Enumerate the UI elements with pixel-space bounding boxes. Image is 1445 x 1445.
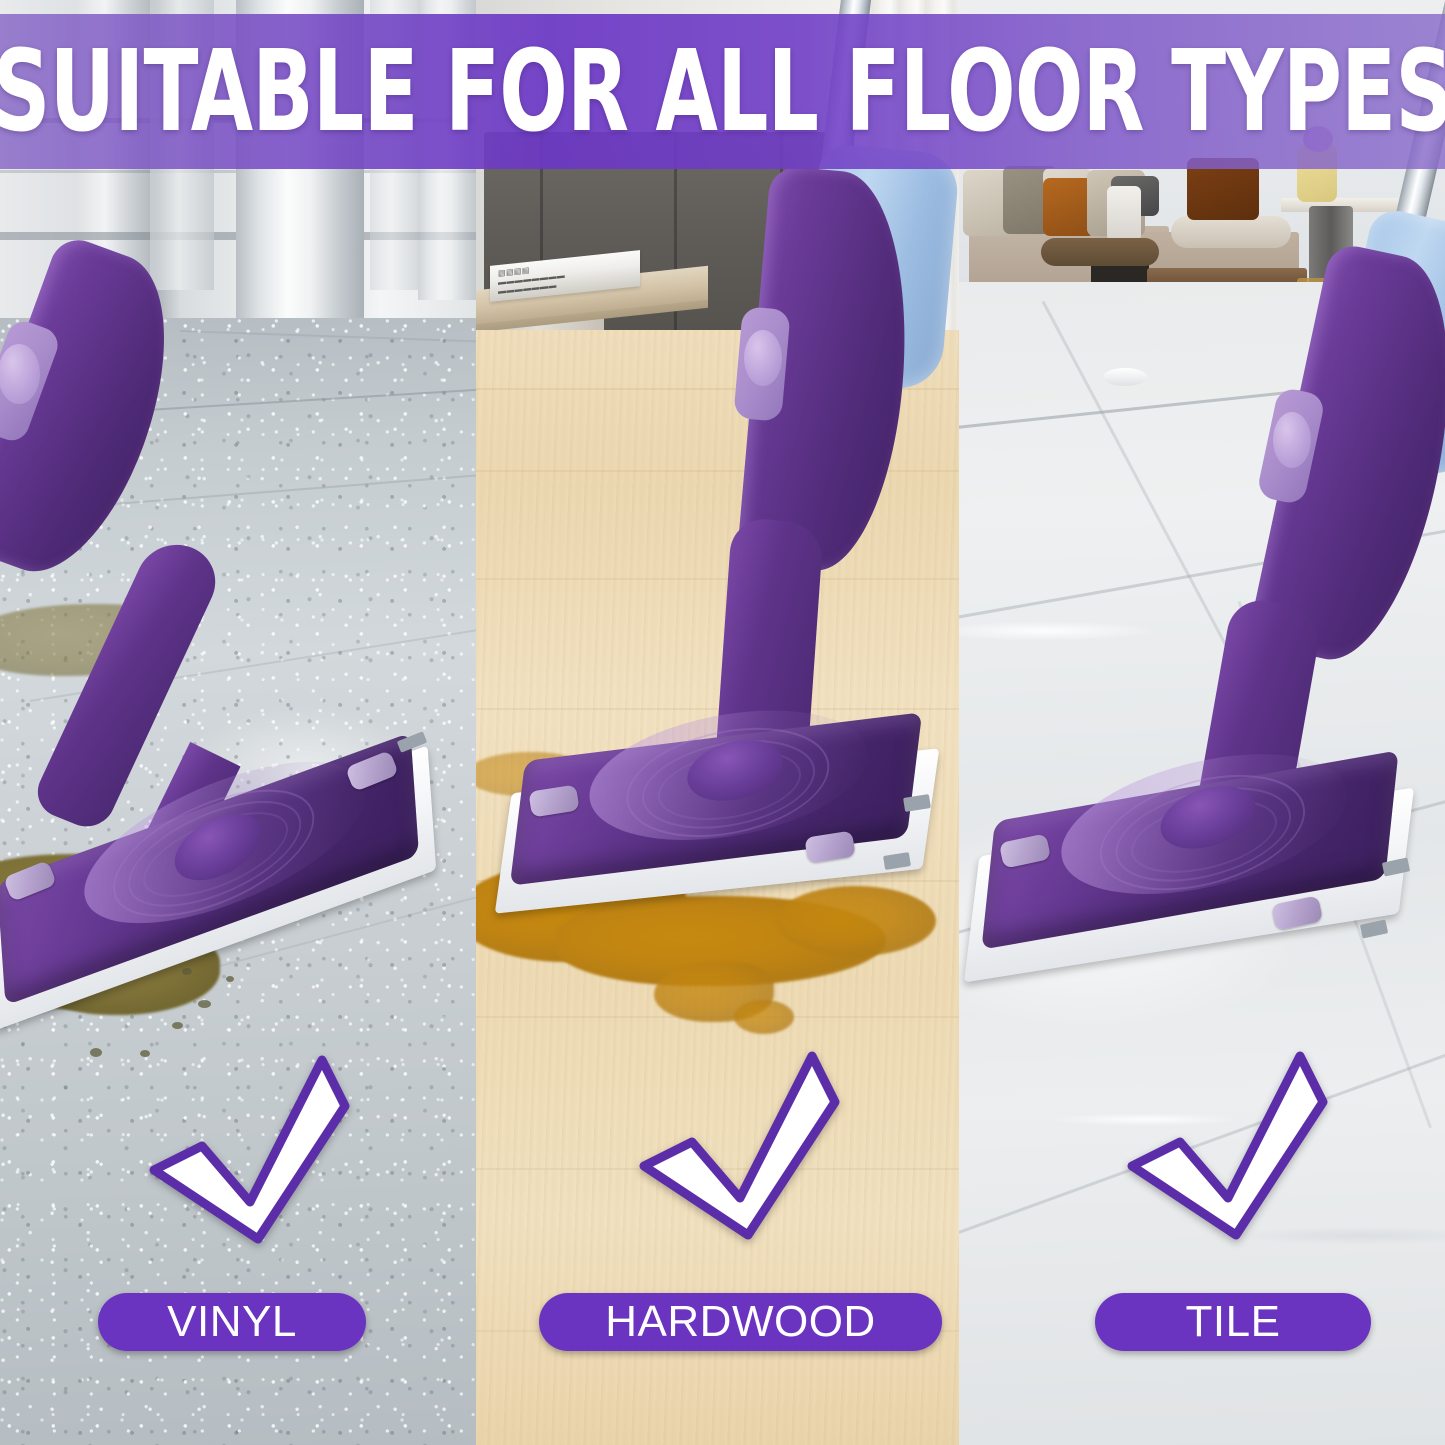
- dirt-droplet: [226, 976, 234, 982]
- floor-type-label-text: VINYL: [167, 1297, 297, 1347]
- check-mark-icon: [146, 1052, 351, 1247]
- scene-hardwood-floor: ▤▤▤▤ ▬▬▬▬▬▬▬▬ ▬▬▬▬▬▬▬: [476, 0, 959, 1445]
- dirt-droplet: [90, 1048, 102, 1057]
- floor-type-label-text: HARDWOOD: [605, 1297, 875, 1347]
- panel-hardwood: ▤▤▤▤ ▬▬▬▬▬▬▬▬ ▬▬▬▬▬▬▬: [476, 0, 959, 1445]
- panel-vinyl: VINYL: [0, 0, 476, 1445]
- bolster-cushion-brown: [1041, 238, 1159, 266]
- dirt-droplet: [172, 1022, 183, 1029]
- plank-seam: [476, 578, 959, 580]
- floor-door-stopper: [1103, 368, 1147, 386]
- page-title: SUITABLE FOR ALL FLOOR TYPES: [145, 14, 1301, 169]
- dirt-droplet: [198, 1000, 211, 1008]
- bolster-cushion: [1171, 216, 1291, 248]
- floor-type-label-hardwood[interactable]: HARDWOOD: [539, 1293, 942, 1351]
- scene-vinyl-floor: VINYL: [0, 0, 476, 1445]
- floor-type-label-tile[interactable]: TILE: [1095, 1293, 1371, 1351]
- dirt-droplet: [182, 968, 192, 975]
- panel-tile: TILE: [959, 0, 1445, 1445]
- juice-spill-droplet: [734, 1000, 794, 1034]
- mop-trigger-button: [1273, 412, 1311, 468]
- scene-tile-floor: TILE: [959, 0, 1445, 1445]
- table-lamp: [1107, 186, 1141, 238]
- check-mark-icon: [636, 1048, 841, 1243]
- check-mark-icon: [1124, 1048, 1329, 1243]
- plank-seam: [476, 708, 959, 710]
- juice-spill: [776, 886, 936, 956]
- floor-type-label-text: TILE: [1186, 1297, 1281, 1347]
- floor-type-label-vinyl[interactable]: VINYL: [98, 1293, 366, 1351]
- product-feature-poster: VINYL ▤▤▤▤ ▬▬▬▬▬▬▬▬ ▬▬▬▬▬▬▬: [0, 0, 1445, 1445]
- mop-trigger-button: [744, 330, 782, 386]
